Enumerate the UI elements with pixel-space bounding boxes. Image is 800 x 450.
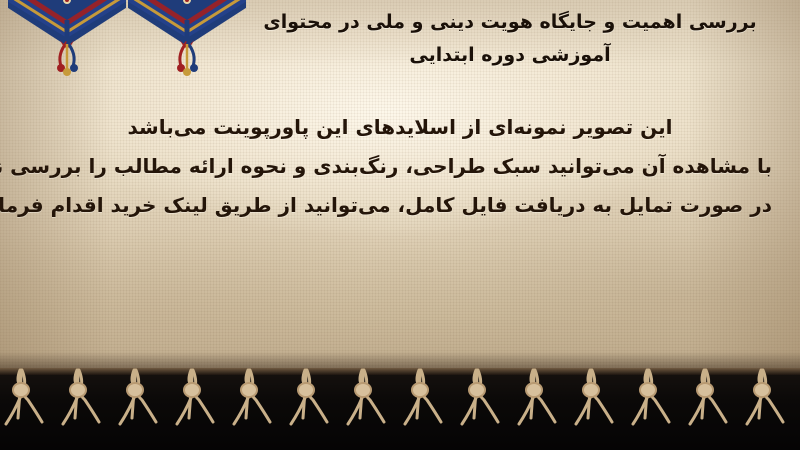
body-line-1: این تصویر نمونه‌ای از اسلایدهای این پاور… [28,108,772,147]
slide-body: این تصویر نمونه‌ای از اسلایدهای این پاور… [28,108,772,225]
persian-medallion-ornament-icon [8,0,126,80]
persian-medallion-ornament-icon-2 [128,0,246,80]
slide-canvas: بررسی اهمیت و جایگاه هویت دینی و ملی در … [0,0,800,450]
slide-title: بررسی اهمیت و جایگاه هویت دینی و ملی در … [236,6,784,73]
tassel-group-icon [0,368,800,450]
fringe-row [0,368,800,450]
body-line-2: با مشاهده آن می‌توانید سبک طراحی، رنگ‌بن… [28,147,772,186]
body-line-3: در صورت تمایل به دریافت فایل کامل، می‌تو… [28,186,772,225]
